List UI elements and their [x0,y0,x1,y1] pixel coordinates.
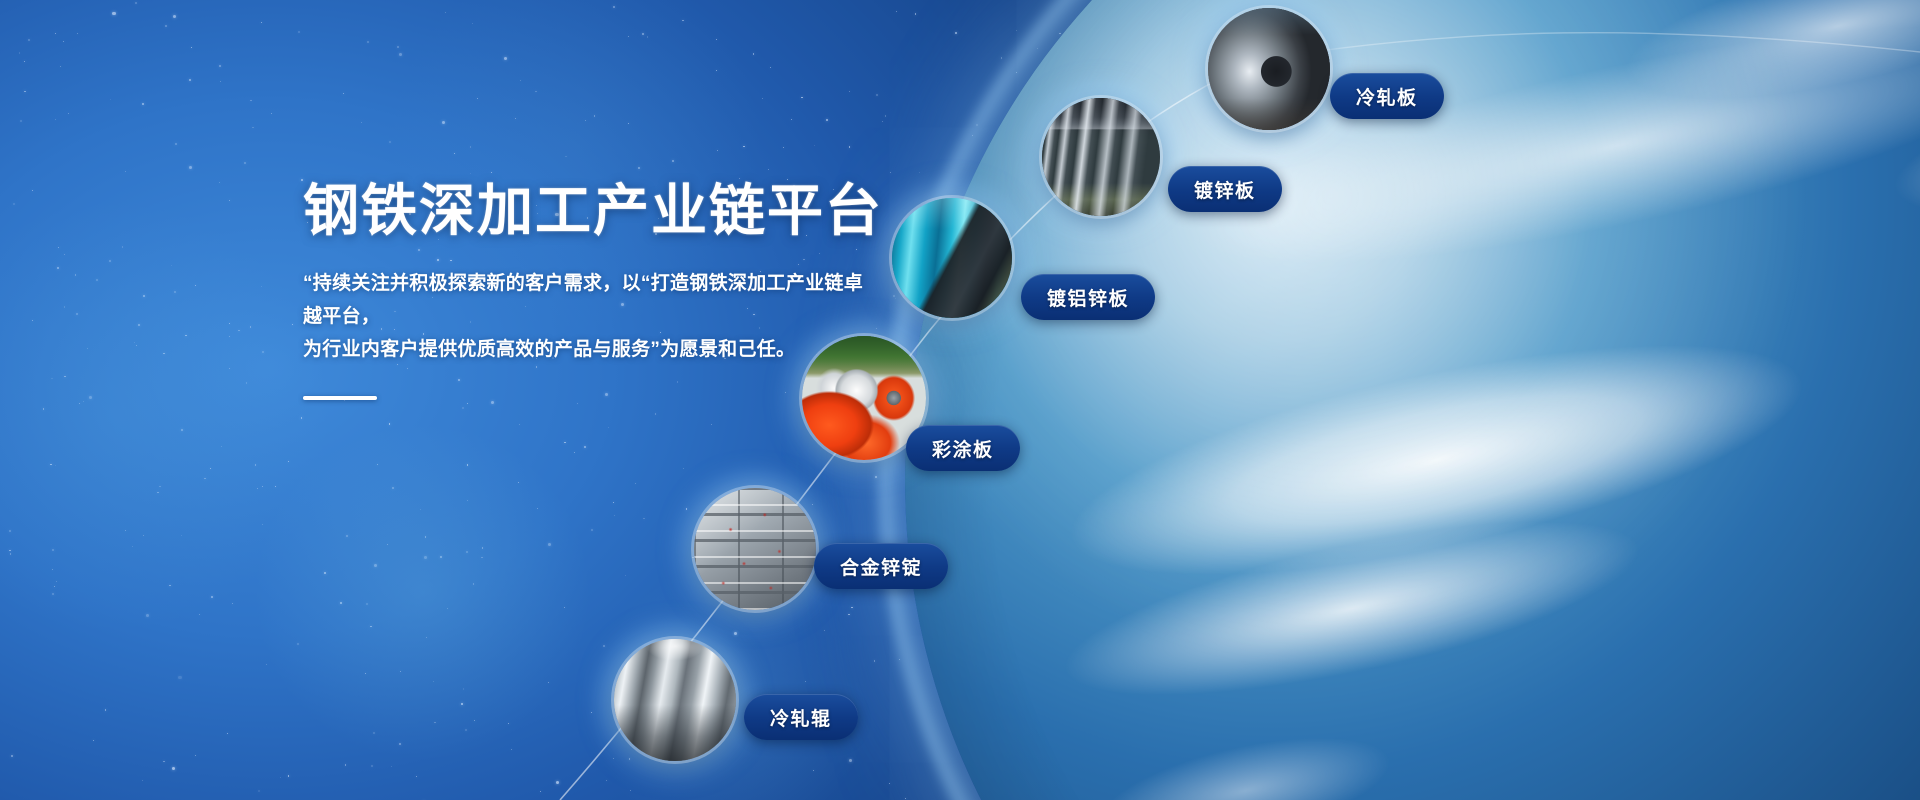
page-title: 钢铁深加工产业链平台 [303,180,943,243]
product-label-cold-rolling-roll[interactable]: 冷轧辊 [744,694,858,740]
product-node-group: 冷轧板 镀锌板 镀铝锌板 彩涂板 合金锌 [0,0,1920,800]
hero-subtitle: “持续关注并积极探索新的客户需求，以“打造钢铁深加工产业链卓越平台， 为行业内客… [303,267,863,367]
galvanized-coil-warehouse-photo [1042,98,1160,216]
steel-coils-warehouse-photo [1208,8,1330,130]
hero-subtitle-line-2: 为行业内客户提供优质高效的产品与服务”为愿景和己任。 [303,333,863,366]
product-photo-cold-rolled-sheet[interactable] [1208,8,1330,130]
hero-subtitle-line-1: “持续关注并积极探索新的客户需求，以“打造钢铁深加工产业链卓越平台， [303,267,863,334]
hero-banner: 钢铁深加工产业链平台 “持续关注并积极探索新的客户需求，以“打造钢铁深加工产业链… [0,0,1920,800]
product-label-zinc-alloy-ingot[interactable]: 合金锌锭 [814,543,948,589]
zinc-ingot-stack-photo [694,488,816,610]
product-label-galvanized-sheet[interactable]: 镀锌板 [1168,166,1282,212]
product-photo-cold-rolling-roll[interactable] [614,639,736,761]
product-photo-zinc-alloy-ingot[interactable] [694,488,816,610]
product-photo-galvanized-sheet[interactable] [1042,98,1160,216]
product-label-color-coated-sheet[interactable]: 彩涂板 [906,425,1020,471]
product-label-cold-rolled-sheet[interactable]: 冷轧板 [1330,73,1444,119]
divider-rule [303,396,377,400]
polished-rolling-rolls-photo [614,639,736,761]
product-label-aluzinc-sheet[interactable]: 镀铝锌板 [1021,274,1155,320]
hero-copy: 钢铁深加工产业链平台 “持续关注并积极探索新的客户需求，以“打造钢铁深加工产业链… [303,180,943,400]
